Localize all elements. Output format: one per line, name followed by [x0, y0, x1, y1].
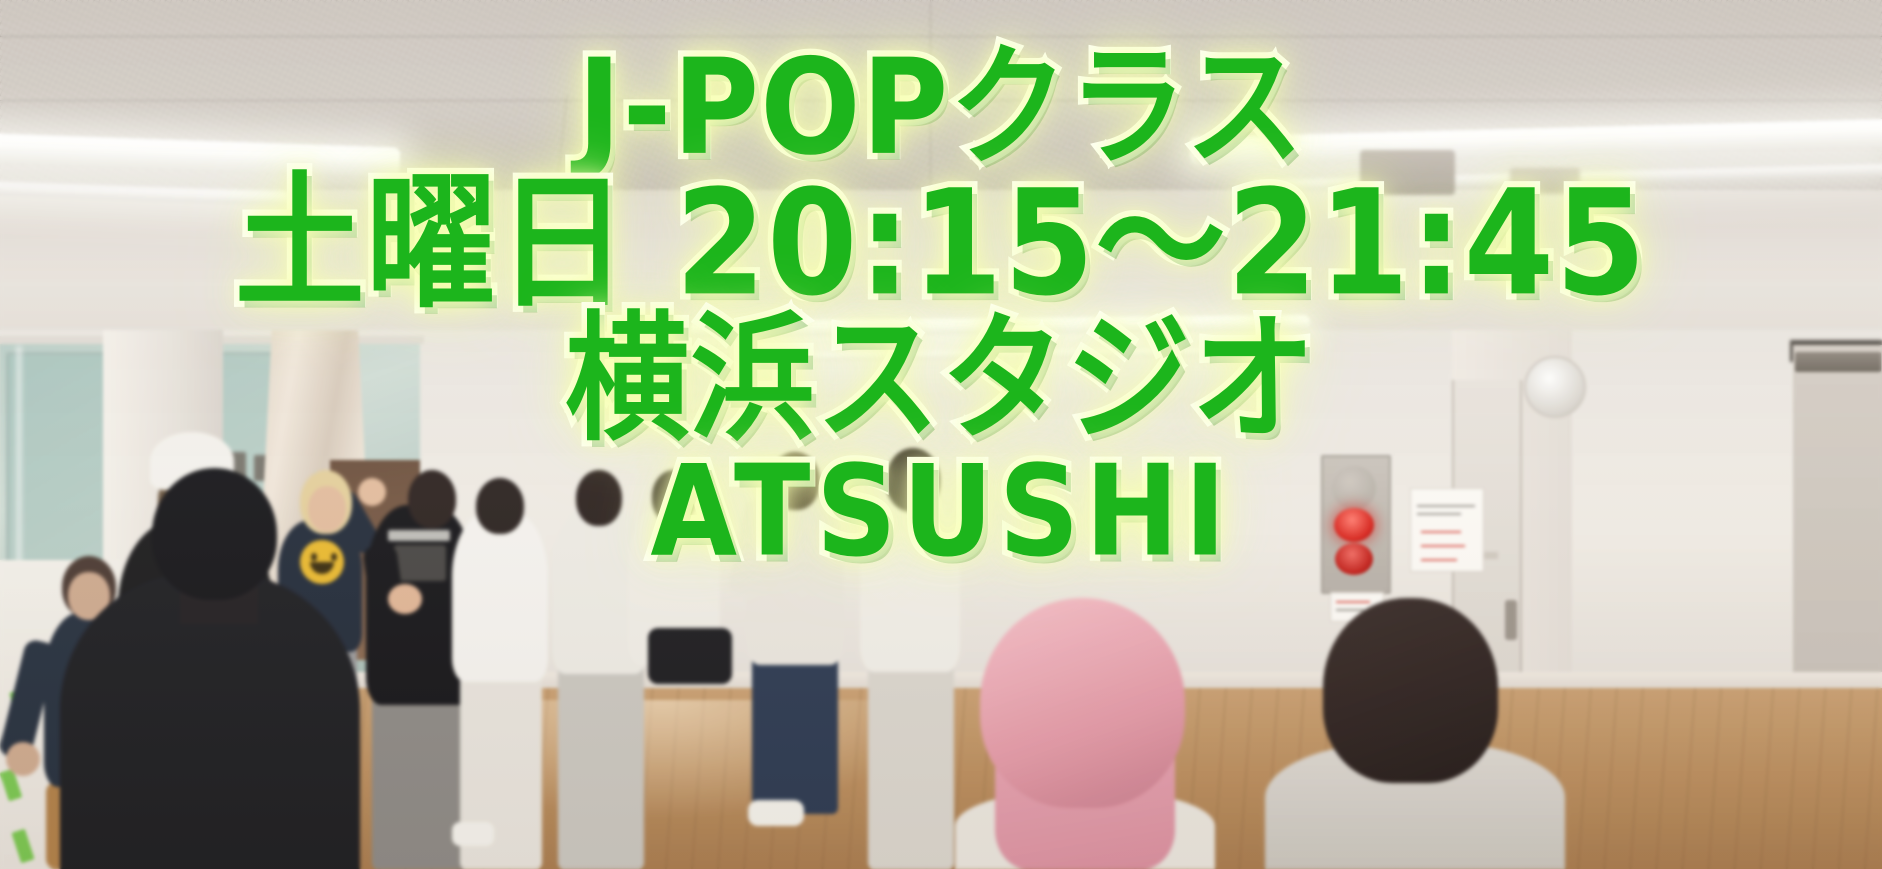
video-frame: J-POPクラス 土曜日 20:15〜21:45 横浜スタジオ ATSUSHI — [0, 0, 1882, 869]
wall-poster — [1410, 488, 1484, 572]
ceiling-seam — [0, 36, 1882, 37]
ceiling-seam — [930, 0, 931, 215]
door-handle — [1505, 600, 1517, 640]
alarm-bell-icon — [1335, 543, 1373, 575]
wall-clock — [1524, 356, 1586, 418]
studio-photo-background — [0, 0, 1882, 869]
ceiling-vent — [1360, 150, 1455, 195]
door-sign — [1482, 552, 1498, 559]
ceiling-seam — [0, 100, 1882, 101]
alarm-speaker-icon — [1332, 466, 1376, 510]
alarm-bell-light-icon — [1334, 508, 1374, 542]
ceiling-vent — [1510, 168, 1580, 194]
door-closer — [1795, 352, 1881, 372]
